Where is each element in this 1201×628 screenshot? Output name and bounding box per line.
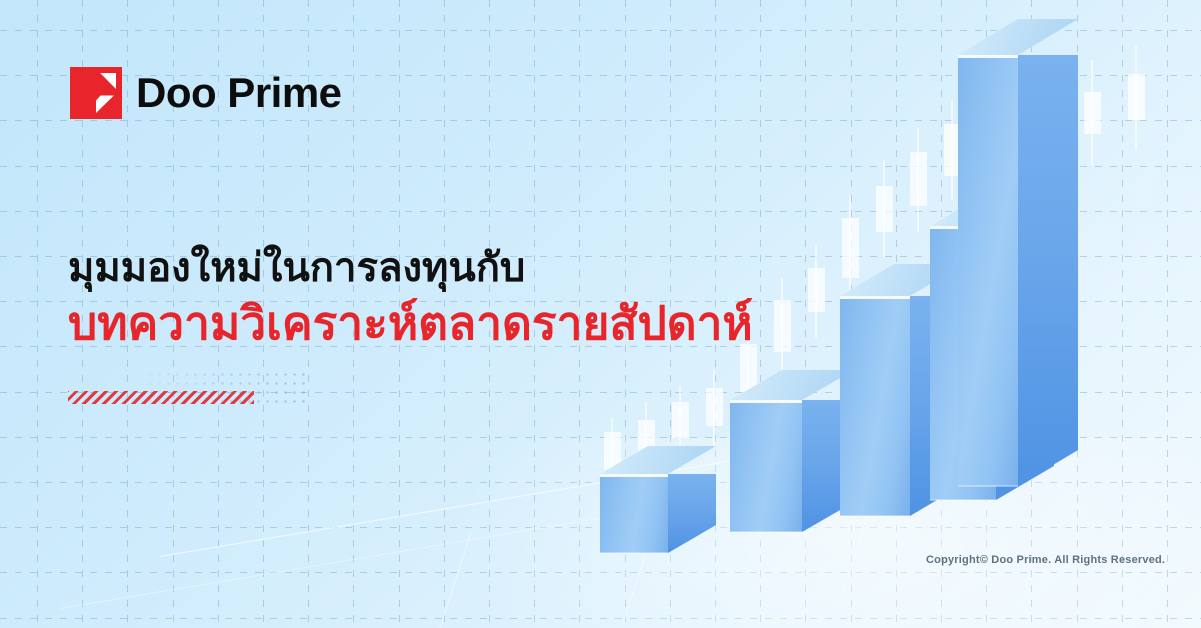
bar-1 bbox=[600, 474, 668, 553]
brand-name: Doo Prime bbox=[136, 72, 342, 114]
brand-logo[interactable]: Doo Prime bbox=[70, 67, 342, 119]
headline-block: มุมมองใหม่ในการลงทุนกับ บทความวิเคราะห์ต… bbox=[68, 245, 753, 350]
bar-2 bbox=[730, 400, 802, 532]
bar-shadow bbox=[0, 0, 74, 79]
banner-canvas: Doo Prime มุมมองใหม่ในการลงทุนกับ บทความ… bbox=[0, 0, 1201, 628]
bar-base-highlight bbox=[730, 531, 802, 533]
red-stripe-bar-decoration bbox=[68, 391, 254, 404]
bar-front-face bbox=[730, 400, 802, 532]
bar-base-highlight bbox=[958, 485, 1018, 487]
bar-top-face bbox=[730, 370, 854, 400]
bar-top-face bbox=[958, 19, 1078, 55]
bar-5 bbox=[958, 55, 1018, 486]
bar-front-face bbox=[840, 296, 910, 516]
bar-base-highlight bbox=[930, 499, 996, 501]
bar-side-face bbox=[1018, 55, 1078, 486]
doo-prime-logo-mark-icon bbox=[70, 67, 122, 119]
bar-3 bbox=[840, 296, 910, 516]
bar-base-highlight bbox=[600, 552, 668, 554]
bar-top-highlight bbox=[600, 474, 668, 477]
bar-shadow bbox=[0, 79, 78, 211]
bar-side-face bbox=[668, 474, 716, 553]
headline-line-2: บทความวิเคราะห์ตลาดรายสัปดาห์ bbox=[68, 296, 753, 350]
bar-top-highlight bbox=[958, 55, 1018, 58]
bar-top-face bbox=[600, 446, 716, 474]
headline-line-1: มุมมองใหม่ในการลงทุนกับ bbox=[68, 245, 753, 292]
bar-shadow bbox=[0, 361, 84, 511]
bar-top-highlight bbox=[730, 400, 802, 403]
bar-front-face bbox=[958, 55, 1018, 486]
bar-top-highlight bbox=[840, 296, 910, 299]
copyright-text: Copyright© Doo Prime. All Rights Reserve… bbox=[926, 554, 1165, 566]
bar-base-highlight bbox=[840, 515, 910, 517]
bar-front-face bbox=[600, 474, 668, 553]
